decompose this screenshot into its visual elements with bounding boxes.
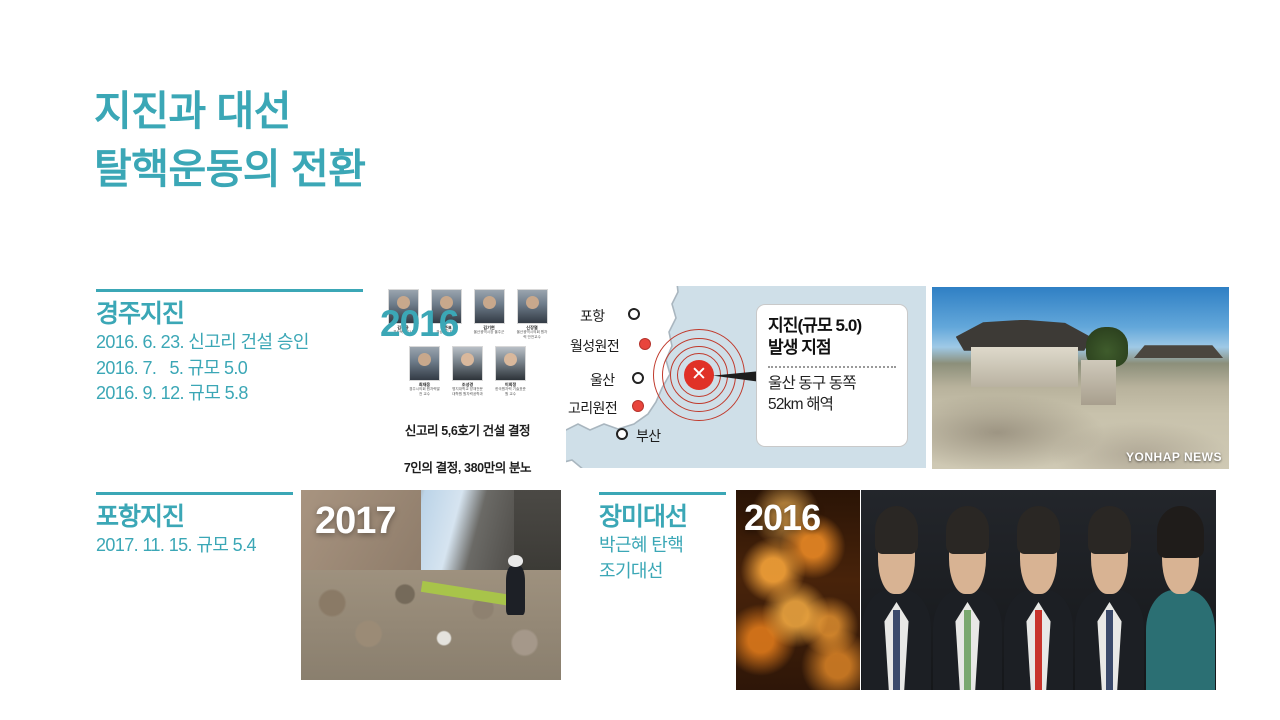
candidate-hair xyxy=(1017,506,1060,554)
page-title: 지진과 대선 탈핵운동의 전환 xyxy=(94,82,794,198)
candidate-tie xyxy=(893,610,901,690)
year-overlay-2016-infographic: 2016 xyxy=(380,305,458,342)
infographic-caption-2: 7인의 결정, 380만의 분노 xyxy=(371,457,564,476)
section-heading-election: 장미대선 xyxy=(599,502,726,533)
candidate-hair xyxy=(946,506,989,554)
candidate-portrait xyxy=(1074,490,1145,690)
candidate-tie xyxy=(964,610,972,690)
infographic-caption-1: 신고리 5,6호기 건설 결정 xyxy=(371,420,564,439)
map-label-busan: 부산 xyxy=(636,426,661,446)
photo-gyeongju-hanok-damage: YONHAP NEWS xyxy=(932,287,1229,469)
epicenter-marker: ✕ xyxy=(684,360,714,390)
title-line-2: 탈핵운동의 전환 xyxy=(94,140,794,198)
portrait-desc: 울산광역시장 울주군 xyxy=(472,330,506,334)
candidate-tie xyxy=(1106,610,1114,690)
callout-headline: 지진(규모 5.0) 발생 지점 xyxy=(768,315,896,359)
portrait-photo xyxy=(517,289,548,324)
map-marker-wolsong xyxy=(639,338,651,350)
infographic-person: 김기현 울산광역시장 울주군 xyxy=(472,289,506,339)
candidate-tie xyxy=(1035,610,1043,690)
portrait-desc: 경주시의회 원자력발전 교수 xyxy=(408,387,442,396)
map-marker-pohang xyxy=(628,308,640,320)
election-line-2: 조기대선 xyxy=(599,559,726,585)
slide-root: 지진과 대선 탈핵운동의 전환 경주지진 2016. 6. 23. 신고리 건설… xyxy=(0,0,1280,720)
candidate-portrait xyxy=(861,490,932,690)
year-overlay-2016-candlelight: 2016 xyxy=(744,500,820,536)
infographic-person: 조성경 명지대학교 방재전문대학원 원자력공학과 xyxy=(451,346,485,396)
earthquake-map-figure: 포항 월성원전 울산 고리원전 부산 ✕ 지진(규모 5.0) 발생 지점 울산… xyxy=(566,286,926,468)
section-gyeongju: 경주지진 2016. 6. 23. 신고리 건설 승인 2016. 7. 5. … xyxy=(96,289,363,407)
candidate-portrait xyxy=(1145,490,1216,690)
portrait-photo xyxy=(474,289,505,324)
map-marker-ulsan xyxy=(632,372,644,384)
election-line-1: 박근혜 탄핵 xyxy=(599,533,726,559)
pohang-line-1: 2017. 11. 15. 규모 5.4 xyxy=(96,533,293,559)
candidate-hair xyxy=(875,506,918,554)
gyeongju-line-1: 2016. 6. 23. 신고리 건설 승인 xyxy=(96,330,363,356)
title-line-1: 지진과 대선 xyxy=(94,82,794,140)
photo-presidential-candidates xyxy=(861,490,1216,690)
photo-pohang-damage: 2017 xyxy=(301,490,561,680)
section-pohang: 포항지진 2017. 11. 15. 규모 5.4 xyxy=(96,492,293,559)
map-label-kori: 고리원전 xyxy=(568,398,617,418)
section-election: 장미대선 박근혜 탄핵 조기대선 xyxy=(599,492,726,584)
candidate-body xyxy=(1146,590,1216,690)
hanok-wall xyxy=(971,347,1078,387)
portrait-photo xyxy=(452,346,483,381)
photo-candlelight-protest: 2016 xyxy=(736,490,860,690)
candidate-hair xyxy=(1088,506,1131,554)
earthquake-callout: 지진(규모 5.0) 발생 지점 울산 동구 동쪽 52km 해역 xyxy=(756,304,908,447)
map-label-pohang: 포항 xyxy=(580,306,605,326)
section-heading-gyeongju: 경주지진 xyxy=(96,299,363,330)
infographic-person: 신장열 울산광역시의회 원자력 안전교수 xyxy=(515,289,549,339)
map-label-ulsan: 울산 xyxy=(590,370,615,390)
portrait-photo xyxy=(409,346,440,381)
infographic-person: 이희정 한국원자력 기술표준원 교수 xyxy=(494,346,528,396)
candidate-portrait xyxy=(932,490,1003,690)
infographic-seven-decision-makers: 김관용 경상북도지사 홍준표 경상남도지사 김기현 울산광역시장 울주군 신장열… xyxy=(371,287,564,467)
map-label-wolsong: 월성원전 xyxy=(570,336,619,356)
gyeongju-line-3: 2016. 9. 12. 규모 5.8 xyxy=(96,381,363,407)
portrait-desc: 명지대학교 방재전문대학원 원자력공학과 xyxy=(451,387,485,396)
year-overlay-2017: 2017 xyxy=(315,502,396,540)
candidate-hair xyxy=(1157,506,1204,558)
gyeongju-line-2: 2016. 7. 5. 규모 5.0 xyxy=(96,356,363,382)
rescue-worker xyxy=(506,566,524,615)
portrait-desc: 울산광역시의회 원자력 안전교수 xyxy=(515,330,549,339)
infographic-person: 최재웅 경주시의회 원자력발전 교수 xyxy=(408,346,442,396)
infographic-row-bottom: 최재웅 경주시의회 원자력발전 교수 조성경 명지대학교 방재전문대학원 원자력… xyxy=(371,339,564,396)
section-heading-pohang: 포항지진 xyxy=(96,502,293,533)
candidate-portrait xyxy=(1003,490,1074,690)
callout-divider xyxy=(768,366,896,368)
callout-subtext: 울산 동구 동쪽 52km 해역 xyxy=(768,374,896,415)
section-rule-election xyxy=(599,492,726,495)
portrait-desc: 한국원자력 기술표준원 교수 xyxy=(494,387,528,396)
section-rule-pohang xyxy=(96,492,293,495)
section-rule-gyeongju xyxy=(96,289,363,292)
map-marker-busan xyxy=(616,428,628,440)
map-marker-kori xyxy=(632,400,644,412)
portrait-photo xyxy=(495,346,526,381)
yonhap-news-watermark: YONHAP NEWS xyxy=(1126,450,1222,464)
